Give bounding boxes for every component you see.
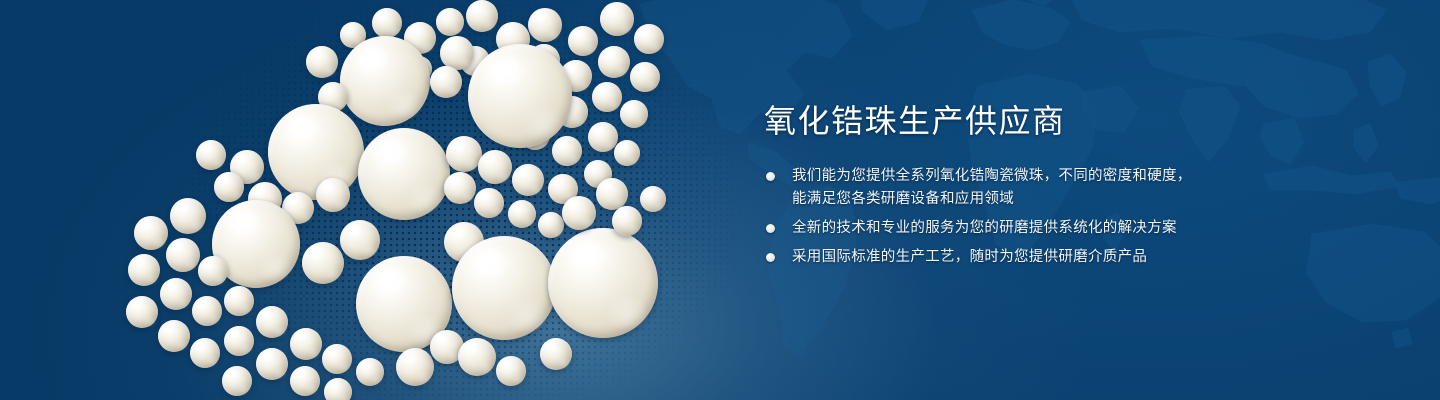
list-item-text: 全新的技术和专业的服务为您的研磨提供系统化的解决方案 xyxy=(792,220,1177,236)
list-item: 采用国际标准的生产工艺，随时为您提供研磨介质产品 xyxy=(764,246,1364,269)
feature-list: 我们能为您提供全系列氧化锆陶瓷微珠，不同的密度和硬度， 能满足您各类研磨设备和应… xyxy=(764,165,1364,269)
hero-banner: 氧化锆珠生产供应商 我们能为您提供全系列氧化锆陶瓷微珠，不同的密度和硬度， 能满… xyxy=(0,0,1440,400)
list-item-text-continued: 能满足您各类研磨设备和应用领域 xyxy=(792,188,1364,211)
list-item: 全新的技术和专业的服务为您的研磨提供系统化的解决方案 xyxy=(764,217,1364,240)
bullet-dot-icon xyxy=(766,172,775,181)
halftone-dot-pattern xyxy=(40,0,740,400)
zirconia-bead-cluster xyxy=(0,0,760,400)
list-item-text: 我们能为您提供全系列氧化锆陶瓷微珠，不同的密度和硬度， xyxy=(792,168,1192,184)
list-item-text: 采用国际标准的生产工艺，随时为您提供研磨介质产品 xyxy=(792,249,1147,265)
banner-content: 氧化锆珠生产供应商 我们能为您提供全系列氧化锆陶瓷微珠，不同的密度和硬度， 能满… xyxy=(764,104,1364,275)
bullet-dot-icon xyxy=(766,224,775,233)
bullet-dot-icon xyxy=(766,253,775,262)
list-item: 我们能为您提供全系列氧化锆陶瓷微珠，不同的密度和硬度， 能满足您各类研磨设备和应… xyxy=(764,165,1364,211)
page-title: 氧化锆珠生产供应商 xyxy=(764,104,1364,139)
